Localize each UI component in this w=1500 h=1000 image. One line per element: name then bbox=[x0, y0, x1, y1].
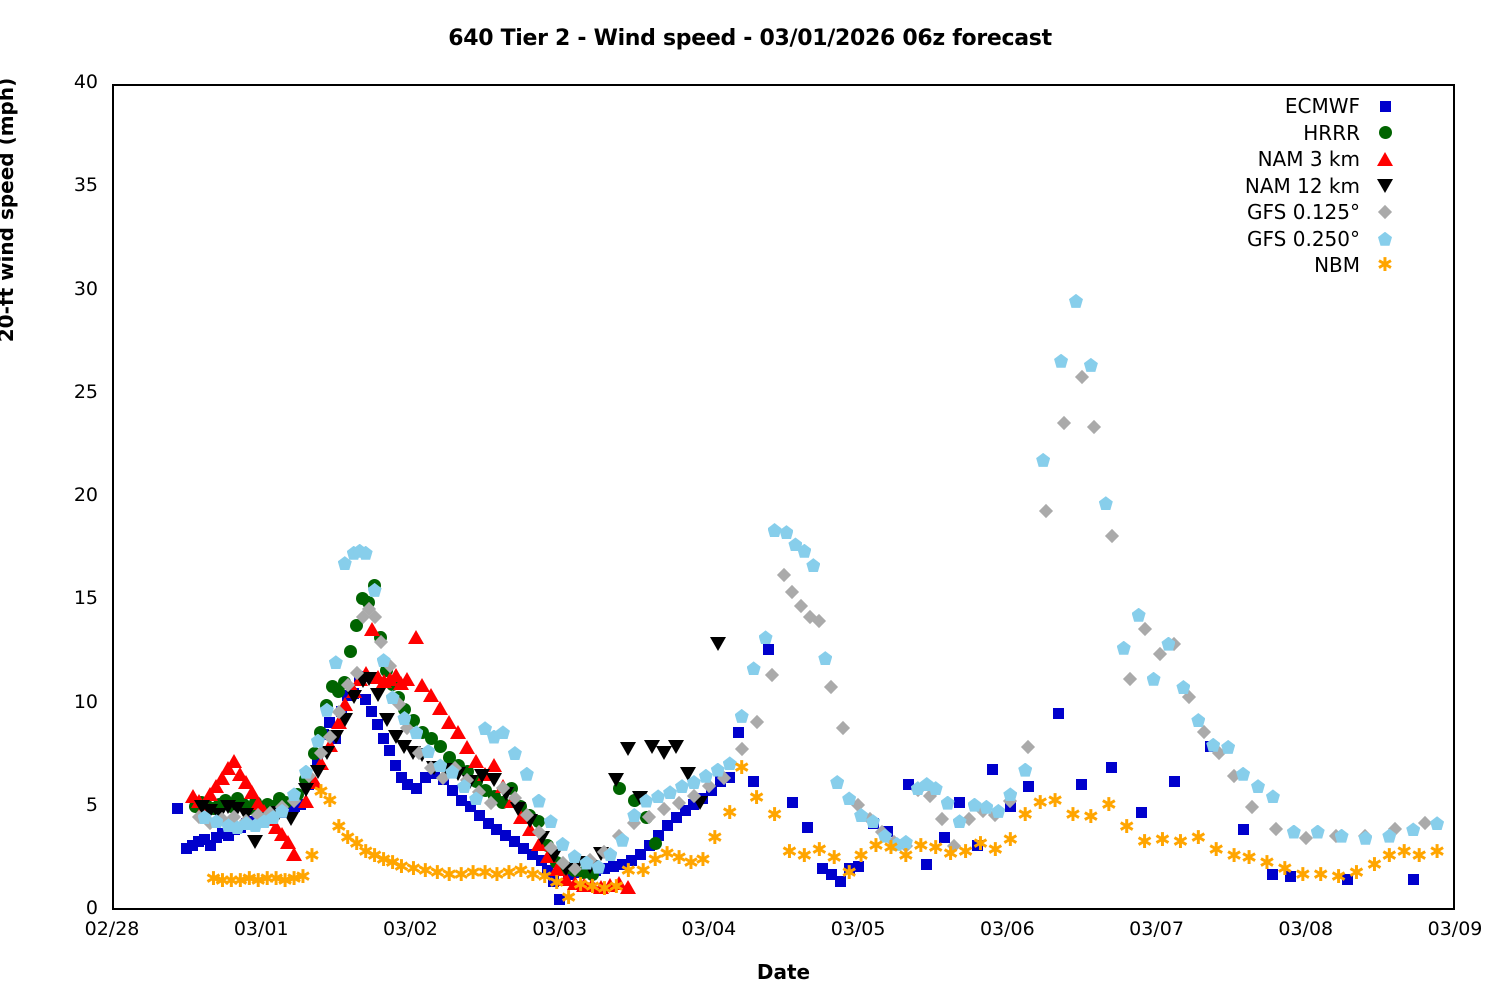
x-tick-label: 03/04 bbox=[681, 918, 736, 940]
legend-item-label: HRRR bbox=[1303, 121, 1368, 145]
data-point: ✱ bbox=[249, 879, 258, 888]
data-point: ✱ bbox=[604, 889, 613, 898]
data-point: ✱ bbox=[849, 873, 858, 882]
data-point: ✱ bbox=[1374, 865, 1383, 874]
data-point: ✱ bbox=[366, 852, 375, 861]
data-point: ✱ bbox=[303, 877, 312, 886]
data-point: ✱ bbox=[1091, 817, 1100, 826]
data-point: ✱ bbox=[1010, 840, 1019, 849]
legend-item-gfs-0-250[interactable]: GFS 0.250° bbox=[1186, 226, 1402, 253]
data-point: ✱ bbox=[1040, 803, 1049, 812]
legend-item-hrrr[interactable]: HRRR bbox=[1186, 120, 1402, 147]
data-point: ✱ bbox=[1163, 840, 1172, 849]
x-tick-label: 03/02 bbox=[383, 918, 438, 940]
data-point: ✱ bbox=[1285, 869, 1294, 878]
data-point: ✱ bbox=[1389, 856, 1398, 865]
data-point: ✱ bbox=[1267, 863, 1276, 872]
data-point: ✱ bbox=[819, 850, 828, 859]
legend-item-nam-3-km[interactable]: NAM 3 km bbox=[1186, 146, 1402, 173]
legend-item-label: ECMWF bbox=[1285, 94, 1368, 118]
data-point: ✱ bbox=[339, 827, 348, 836]
data-point: ✱ bbox=[1025, 815, 1034, 824]
data-point: ✱ bbox=[413, 869, 422, 878]
data-point: ✱ bbox=[715, 838, 724, 847]
data-point: ✱ bbox=[936, 848, 945, 857]
data-point: ✱ bbox=[497, 875, 506, 884]
data-point: ✱ bbox=[258, 881, 267, 890]
legend-item-gfs-0-125[interactable]: GFS 0.125° bbox=[1186, 199, 1402, 226]
legend-asterisk-icon: ✱ bbox=[1368, 252, 1402, 278]
data-point: ✱ bbox=[581, 885, 590, 894]
data-point: ✱ bbox=[643, 871, 652, 880]
x-tick-label: 03/09 bbox=[1428, 918, 1483, 940]
data-point: ✱ bbox=[533, 875, 542, 884]
data-point: ✱ bbox=[757, 798, 766, 807]
data-point: ✱ bbox=[285, 881, 294, 890]
data-point: ✱ bbox=[294, 879, 303, 888]
data-point: ✱ bbox=[545, 877, 554, 886]
legend-square-icon bbox=[1368, 93, 1402, 119]
data-point: ✱ bbox=[231, 881, 240, 890]
legend-diamond-icon bbox=[1368, 199, 1402, 225]
data-point: ✱ bbox=[267, 879, 276, 888]
data-point: ✱ bbox=[1234, 856, 1243, 865]
x-axis-title: Date bbox=[112, 960, 1455, 984]
x-tick-label: 02/28 bbox=[85, 918, 140, 940]
data-point: ✱ bbox=[1216, 850, 1225, 859]
data-point: ✱ bbox=[449, 875, 458, 884]
legend-item-label: NAM 3 km bbox=[1258, 147, 1368, 171]
data-point: ✱ bbox=[730, 813, 739, 822]
data-point: ✱ bbox=[804, 856, 813, 865]
y-axis-title: 20-ft wind speed (mph) bbox=[0, 0, 18, 420]
y-tick-label: 10 bbox=[50, 691, 98, 713]
data-point: ✱ bbox=[521, 871, 530, 880]
data-point: ✱ bbox=[703, 860, 712, 869]
data-point: ✱ bbox=[213, 879, 222, 888]
data-point: ✱ bbox=[357, 844, 366, 853]
legend-item-ecmwf[interactable]: ECMWF bbox=[1186, 93, 1402, 120]
data-point: ✱ bbox=[679, 858, 688, 867]
data-point: ✱ bbox=[1055, 801, 1064, 810]
data-point: ✱ bbox=[473, 873, 482, 882]
legend-circle-icon bbox=[1368, 120, 1402, 146]
data-point: ✱ bbox=[1180, 842, 1189, 851]
data-point: ✱ bbox=[861, 856, 870, 865]
legend-item-nbm[interactable]: NBM✱ bbox=[1186, 252, 1402, 279]
data-point: ✱ bbox=[667, 854, 676, 863]
data-point: ✱ bbox=[348, 838, 357, 847]
data-point: ✱ bbox=[921, 846, 930, 855]
x-tick-label: 03/05 bbox=[831, 918, 886, 940]
data-point: ✱ bbox=[906, 856, 915, 865]
data-point: ✱ bbox=[330, 801, 339, 810]
data-point: ✱ bbox=[1357, 873, 1366, 882]
y-tick-label: 25 bbox=[50, 381, 98, 403]
data-point: ✱ bbox=[789, 852, 798, 861]
data-point: ✱ bbox=[312, 856, 321, 865]
x-tick-label: 03/06 bbox=[980, 918, 1035, 940]
data-point: ✱ bbox=[834, 858, 843, 867]
data-point: ✱ bbox=[557, 883, 566, 892]
data-point: ✱ bbox=[1145, 842, 1154, 851]
data-point: ✱ bbox=[616, 887, 625, 896]
x-tick-label: 03/07 bbox=[1129, 918, 1184, 940]
data-point: ✱ bbox=[655, 860, 664, 869]
legend-item-label: GFS 0.125° bbox=[1247, 200, 1368, 224]
chart-legend: ECMWFHRRRNAM 3 kmNAM 12 kmGFS 0.125°GFS … bbox=[1186, 93, 1402, 279]
data-point: ✱ bbox=[966, 852, 975, 861]
data-point: ✱ bbox=[1419, 856, 1428, 865]
data-point: ✱ bbox=[1339, 877, 1348, 886]
x-tick-label: 03/01 bbox=[234, 918, 289, 940]
data-point: ✱ bbox=[485, 873, 494, 882]
y-tick-label: 0 bbox=[50, 897, 98, 919]
data-point: ✱ bbox=[425, 871, 434, 880]
data-point: ✱ bbox=[437, 873, 446, 882]
y-tick-label: 40 bbox=[50, 71, 98, 93]
y-tick-label: 20 bbox=[50, 484, 98, 506]
data-point: ✱ bbox=[384, 860, 393, 869]
y-tick-label: 5 bbox=[50, 794, 98, 816]
data-point: ✱ bbox=[461, 875, 470, 884]
data-point: ✱ bbox=[509, 873, 518, 882]
data-point: ✱ bbox=[995, 850, 1004, 859]
chart-canvas: 640 Tier 2 - Wind speed - 03/01/2026 06z… bbox=[0, 0, 1500, 1000]
data-point: ✱ bbox=[401, 867, 410, 876]
data-point: ✱ bbox=[393, 863, 402, 872]
data-point: ✱ bbox=[375, 856, 384, 865]
data-point: ✱ bbox=[1073, 815, 1082, 824]
x-tick-label: 03/03 bbox=[532, 918, 587, 940]
data-point: ✱ bbox=[980, 844, 989, 853]
y-tick-label: 15 bbox=[50, 587, 98, 609]
data-point: ✱ bbox=[321, 792, 330, 801]
data-point: ✱ bbox=[240, 881, 249, 890]
data-point: ✱ bbox=[1303, 875, 1312, 884]
data-point: ✱ bbox=[222, 881, 231, 890]
legend-pentagon-icon bbox=[1368, 226, 1402, 252]
data-point: ✱ bbox=[742, 768, 751, 777]
y-tick-label: 30 bbox=[50, 278, 98, 300]
legend-item-label: NAM 12 km bbox=[1245, 174, 1368, 198]
data-point: ✱ bbox=[891, 848, 900, 857]
legend-item-nam-12-km[interactable]: NAM 12 km bbox=[1186, 173, 1402, 200]
data-point: ✱ bbox=[1127, 827, 1136, 836]
data-point: ✱ bbox=[1437, 852, 1446, 861]
data-point: ✱ bbox=[691, 863, 700, 872]
data-point: ✱ bbox=[876, 846, 885, 855]
data-point: ✱ bbox=[592, 887, 601, 896]
data-point: ✱ bbox=[1404, 852, 1413, 861]
x-tick-label: 03/08 bbox=[1278, 918, 1333, 940]
data-point: ✱ bbox=[276, 879, 285, 888]
legend-item-label: NBM bbox=[1314, 253, 1368, 277]
data-point: ✱ bbox=[1109, 805, 1118, 814]
legend-item-label: GFS 0.250° bbox=[1247, 227, 1368, 251]
legend-triangle-down-icon bbox=[1368, 173, 1402, 199]
y-tick-label: 35 bbox=[50, 174, 98, 196]
chart-title: 640 Tier 2 - Wind speed - 03/01/2026 06z… bbox=[0, 26, 1500, 51]
data-point: ✱ bbox=[628, 871, 637, 880]
data-point: ✱ bbox=[1198, 838, 1207, 847]
data-point: ✱ bbox=[775, 815, 784, 824]
data-point: ✱ bbox=[1321, 875, 1330, 884]
data-point: ✱ bbox=[1249, 858, 1258, 867]
data-point: ✱ bbox=[951, 854, 960, 863]
legend-triangle-up-icon bbox=[1368, 146, 1402, 172]
data-point: ✱ bbox=[569, 898, 578, 907]
